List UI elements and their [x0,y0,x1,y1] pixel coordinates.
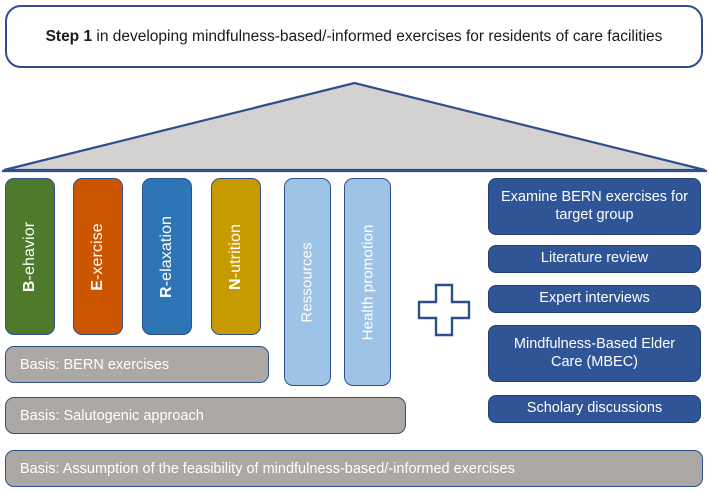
diagram-canvas: Step 1 in developing mindfulness-based/-… [0,0,709,492]
plus-shape [419,285,469,335]
action-label: Mindfulness-Based Elder Care (MBEC) [497,336,692,371]
pillar-health-promotion[interactable]: Health promotion [344,178,391,386]
title-text: Step 1 in developing mindfulness-based/-… [46,26,663,48]
pillar-relaxation-label: R-elaxation [158,215,176,297]
pillar-exercise[interactable]: E-xercise [73,178,123,335]
basis-label: Basis: BERN exercises [20,357,169,373]
action-label: Examine BERN exercises for target group [497,189,692,224]
pillar-behavior[interactable]: B-ehavior [5,178,55,335]
basis-label: Basis: Assumption of the feasibility of … [20,461,515,477]
action-examine-bern-exercises[interactable]: Examine BERN exercises for target group [488,178,701,235]
basis-bar-bern-exercises: Basis: BERN exercises [5,346,269,383]
basis-bar-salutogenic-approach: Basis: Salutogenic approach [5,397,406,434]
action-label: Literature review [541,250,648,267]
action-label: Scholary discussions [527,400,662,417]
pillar-ressources-label: Ressources [299,242,316,322]
pillar-ressources[interactable]: Ressources [284,178,331,386]
title-rest: in developing mindfulness-based/-informe… [92,28,662,45]
pillar-relaxation[interactable]: R-elaxation [142,178,192,335]
title-lead: Step 1 [46,28,93,45]
plus-icon [416,282,472,338]
pillar-exercise-label: E-xercise [89,223,107,291]
basis-bar-feasibility-assumption: Basis: Assumption of the feasibility of … [5,450,703,487]
pillar-behavior-label: B-ehavior [21,221,39,291]
roof-triangle [0,80,709,174]
roof-polygon [4,83,705,170]
action-scholary-discussions[interactable]: Scholary discussions [488,395,701,423]
pillar-health-promotion-label: Health promotion [359,224,376,340]
action-expert-interviews[interactable]: Expert interviews [488,285,701,313]
basis-label: Basis: Salutogenic approach [20,408,204,424]
action-mbec[interactable]: Mindfulness-Based Elder Care (MBEC) [488,325,701,382]
pillar-nutrition-label: N-utrition [227,224,245,290]
title-banner: Step 1 in developing mindfulness-based/-… [5,5,703,68]
pillar-nutrition[interactable]: N-utrition [211,178,261,335]
action-label: Expert interviews [539,290,649,307]
action-literature-review[interactable]: Literature review [488,245,701,273]
